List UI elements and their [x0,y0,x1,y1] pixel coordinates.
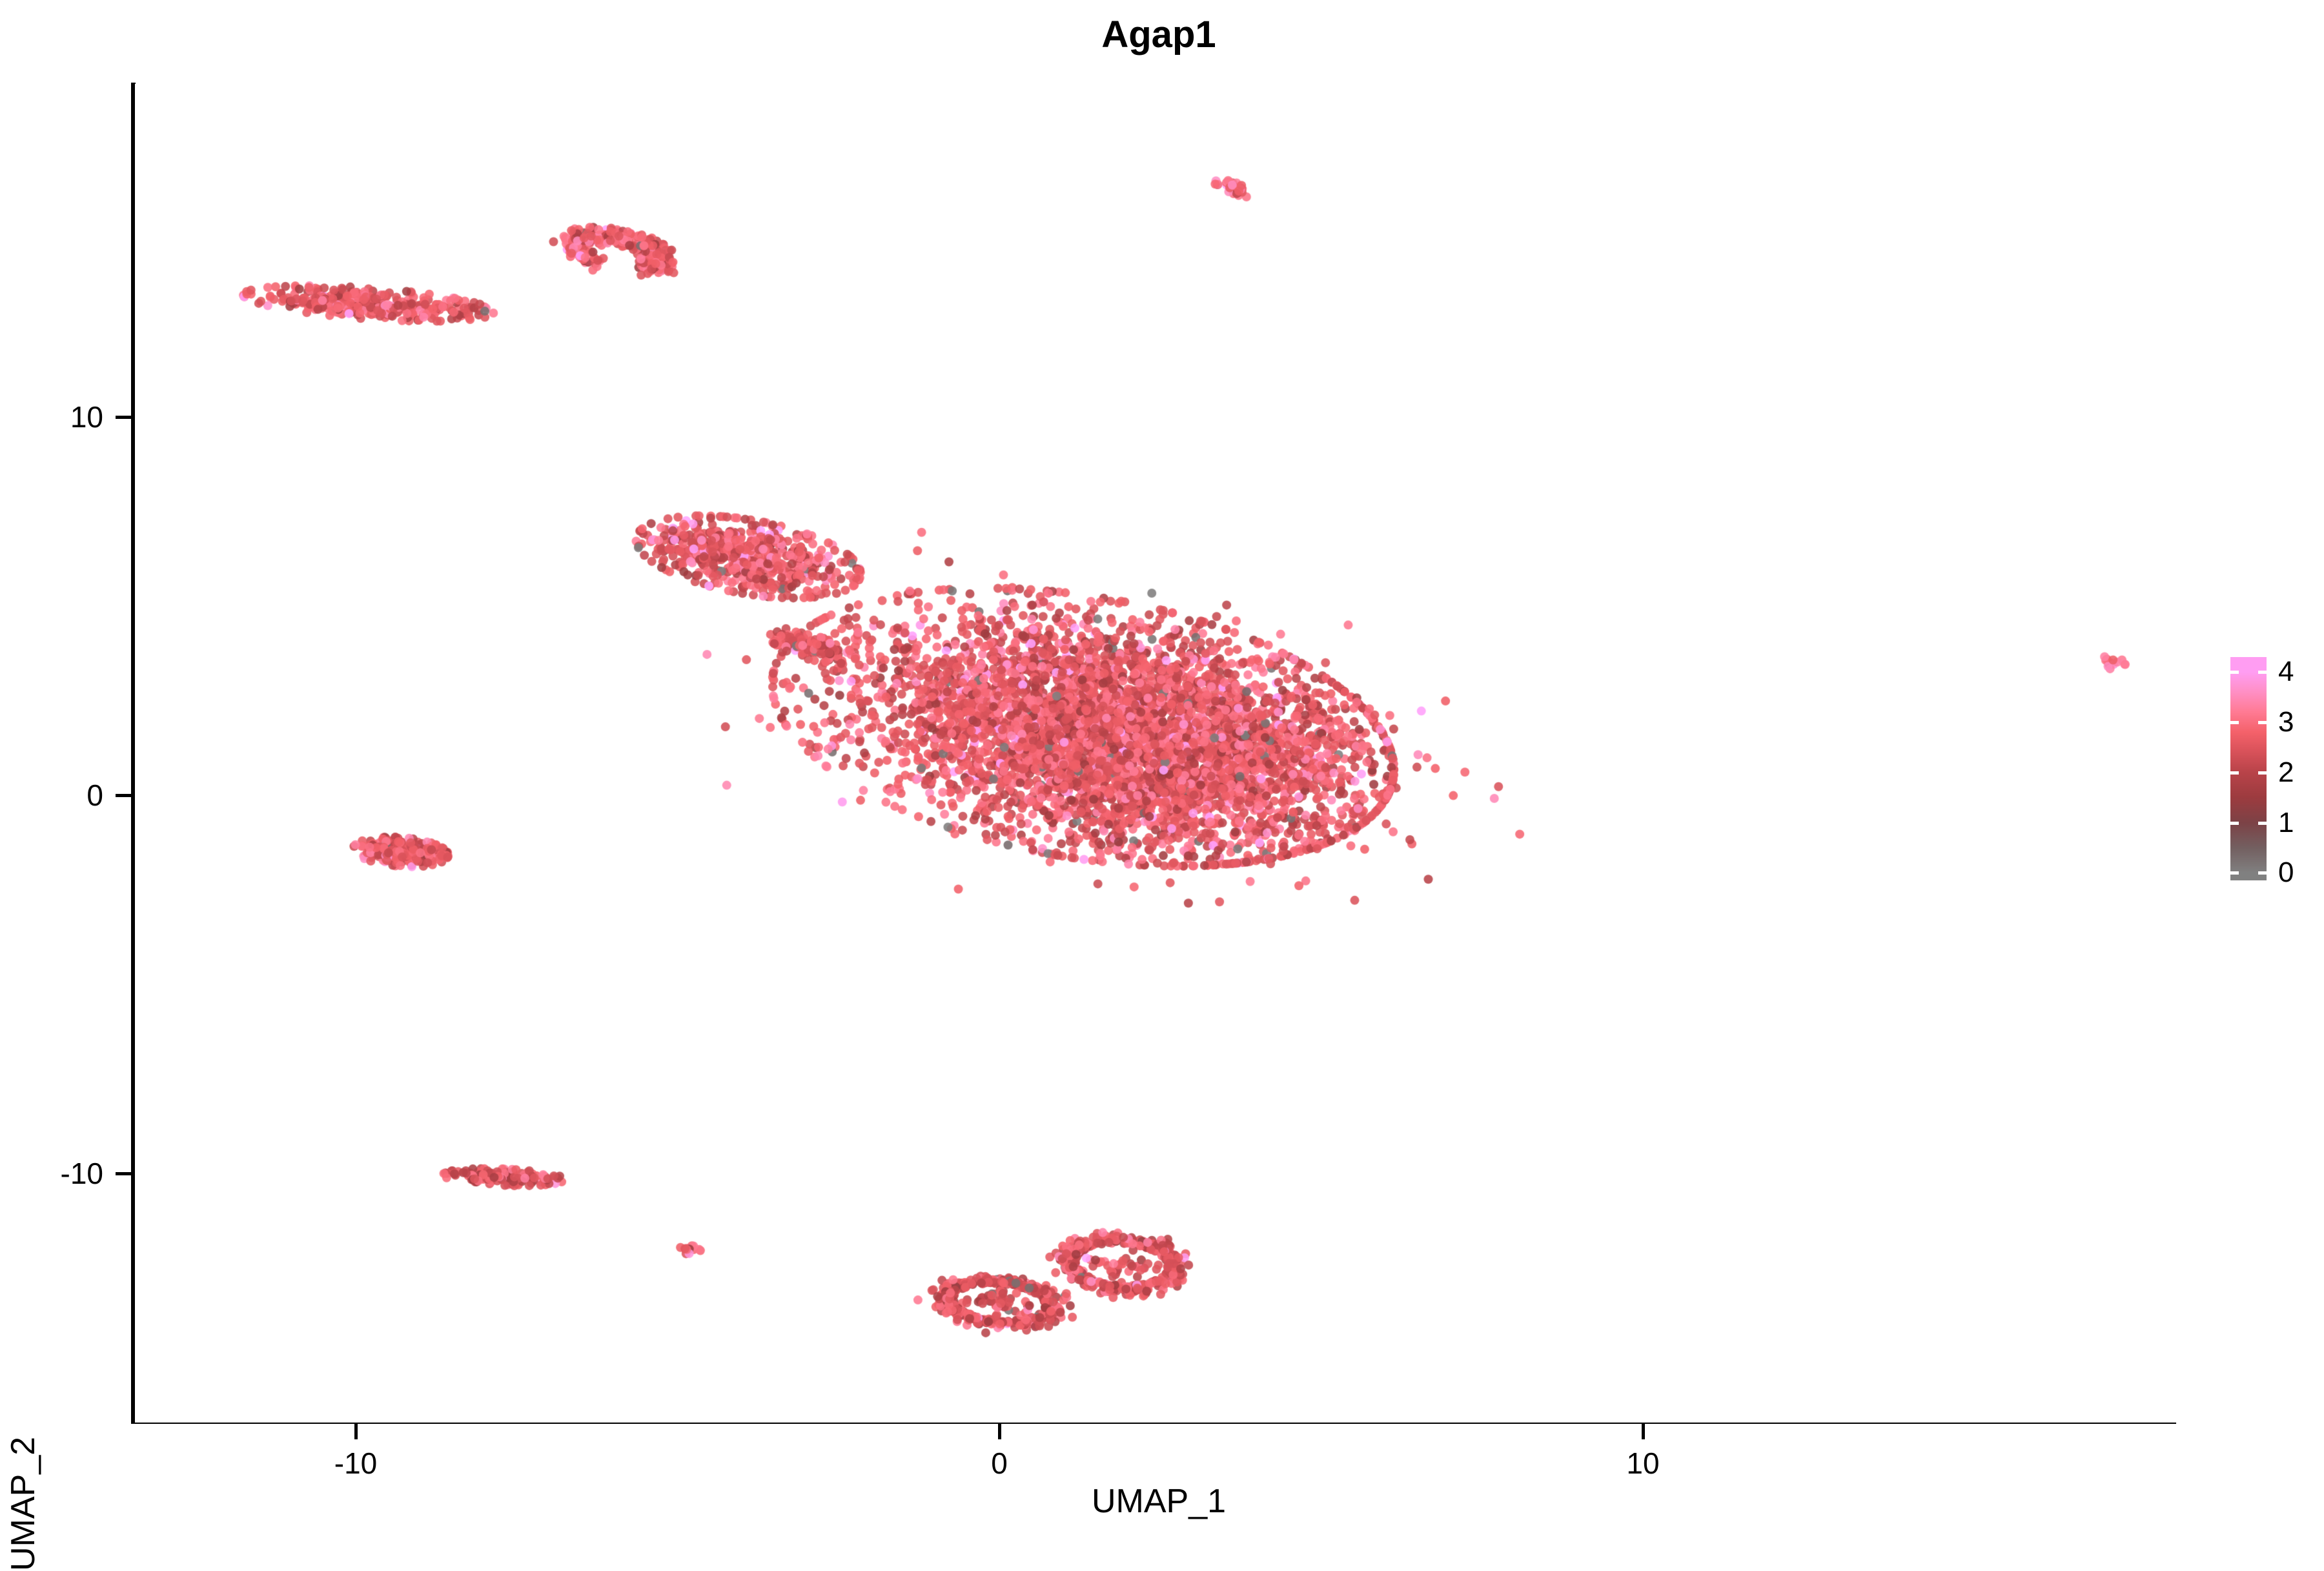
legend-colorbar [2230,657,2267,880]
y-tick-label: -10 [0,1156,103,1191]
y-tick-mark [116,1172,131,1175]
legend-tick-mark [2230,822,2239,825]
y-tick-label: 0 [0,778,103,813]
legend-label: 2 [2278,756,2294,789]
y-tick-mark [116,794,131,797]
x-tick-label: -10 [334,1446,377,1481]
legend-label: 3 [2278,706,2294,738]
y-axis-title: UMAP_2 [4,1437,43,1571]
color-legend[interactable]: 43210 [2230,657,2321,880]
y-tick-mark [116,416,131,419]
x-tick-label: 10 [1626,1446,1659,1481]
scatter-plot-panel [135,84,2176,1423]
x-axis-title: UMAP_1 [1092,1482,1226,1521]
legend-tick-mark [2258,822,2267,825]
legend-tick-mark [2230,721,2239,724]
x-tick-mark [354,1424,358,1439]
scatter-points-layer [135,84,2176,1423]
legend-tick-mark [2258,721,2267,724]
legend-tick-mark [2230,671,2239,674]
x-tick-mark [1642,1424,1645,1439]
legend-tick-mark [2258,871,2267,875]
legend-tick-mark [2258,771,2267,775]
x-tick-mark [998,1424,1001,1439]
legend-label: 0 [2278,856,2294,889]
plot-title-area: Agap1 [0,0,2324,77]
legend-tick-mark [2258,671,2267,674]
legend-label: 4 [2278,656,2294,688]
x-tick-label: 0 [991,1446,1008,1481]
legend-tick-mark [2230,871,2239,875]
legend-tick-mark [2230,771,2239,775]
legend-label: 1 [2278,807,2294,839]
y-tick-label: 10 [0,400,103,434]
page-title: Agap1 [1101,13,1216,56]
